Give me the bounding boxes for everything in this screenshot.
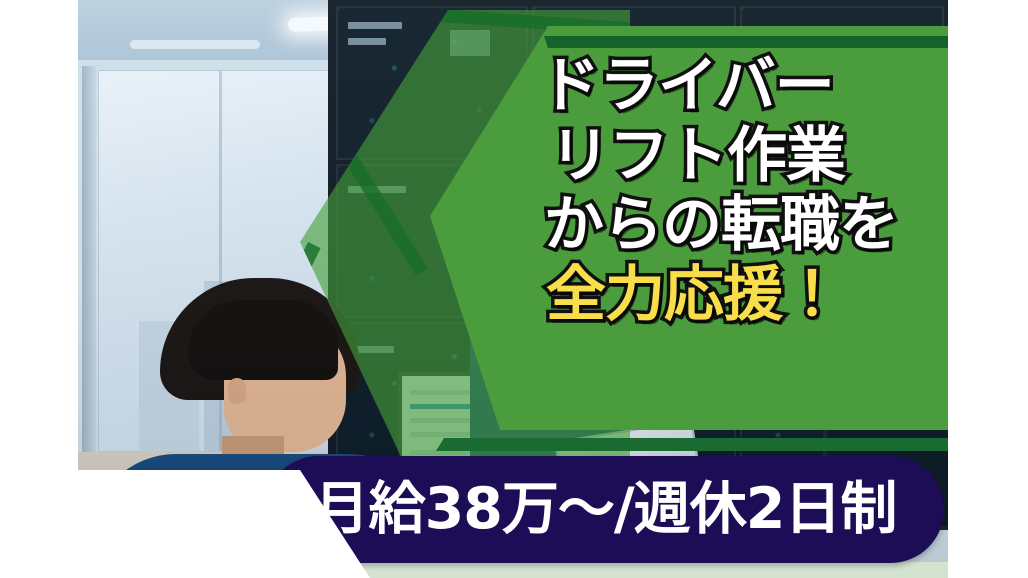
ceiling-light-secondary [130,40,260,49]
headline-line-2: リフト作業 [550,128,940,186]
green-panel-bottom-bar [430,438,948,451]
headline-line-1: ドライバー [540,58,940,116]
window-frame [82,66,96,466]
white-margin-right [948,0,1028,578]
headline-line-3: からの転職を [544,197,940,255]
salary-pill: 月給38万〜/週休2日制 [265,456,944,563]
salary-pill-text: 月給38万〜/週休2日制 [313,481,897,538]
headline-line-4-accent: 全力応援！ [546,267,940,325]
headline-block: ドライバー リフト作業 からの転職を 全力応援！ [540,58,940,336]
recruit-banner: ドライバー リフト作業 からの転職を 全力応援！ 月給38万〜/週休2日制 [0,0,1028,578]
